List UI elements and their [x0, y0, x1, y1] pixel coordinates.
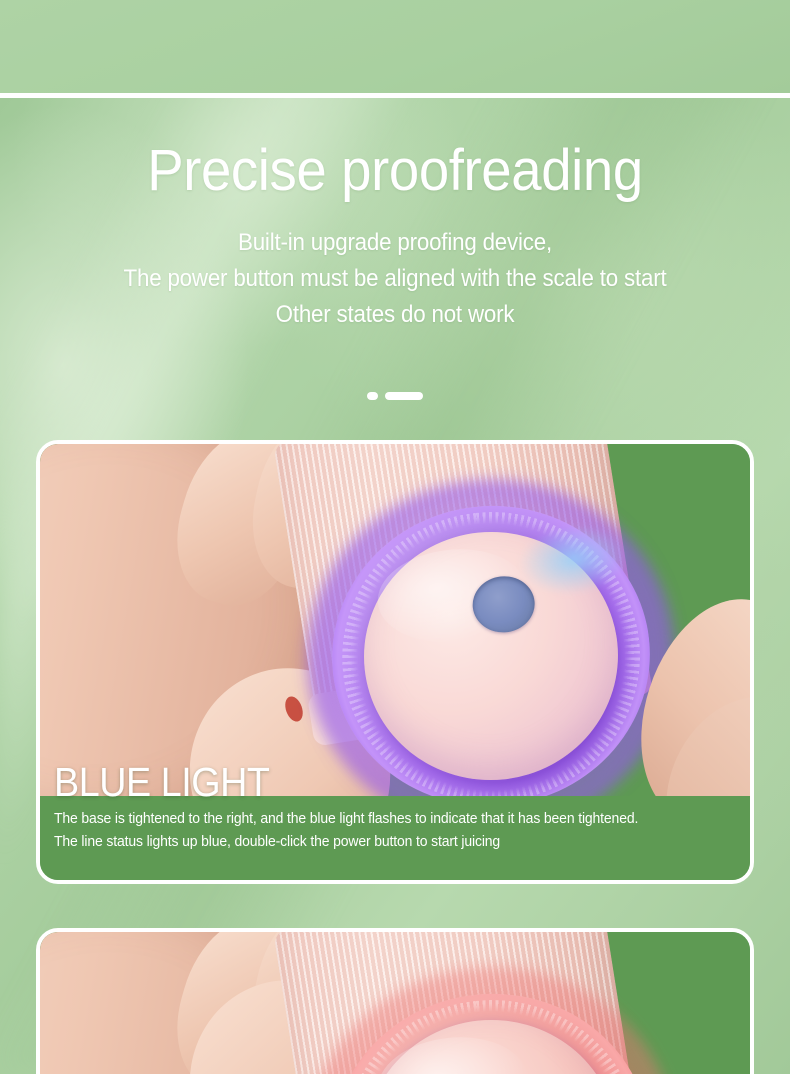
caption-line-2: The line status lights up blue, double-c… [54, 831, 716, 854]
subtitle-line-1: Built-in upgrade proofing device, [28, 225, 763, 261]
product-photo-red-light [40, 932, 750, 1074]
dash-dot-icon [367, 392, 378, 400]
decorative-dash-ornament [0, 392, 790, 400]
top-banner-strip [0, 0, 790, 93]
page-subtitle: Built-in upgrade proofing device, The po… [28, 225, 763, 333]
header-section: Precise proofreading Built-in upgrade pr… [0, 98, 790, 333]
page-title: Precise proofreading [24, 140, 767, 203]
subtitle-line-3: Other states do not work [28, 297, 763, 333]
card-caption-blue-light: The base is tightened to the right, and … [54, 808, 716, 855]
caption-line-1: The base is tightened to the right, and … [54, 808, 716, 831]
dash-bar-icon [385, 392, 423, 400]
blender-base-cap [317, 490, 665, 816]
subtitle-line-2: The power button must be aligned with th… [28, 261, 763, 297]
feature-card-red-light [36, 928, 754, 1074]
card-label-blue-light: BLUE LIGHT [54, 762, 269, 803]
caption-band-blue: The base is tightened to the right, and … [40, 796, 750, 880]
feature-card-blue-light: BLUE LIGHT The base is tightened to the … [36, 440, 754, 884]
